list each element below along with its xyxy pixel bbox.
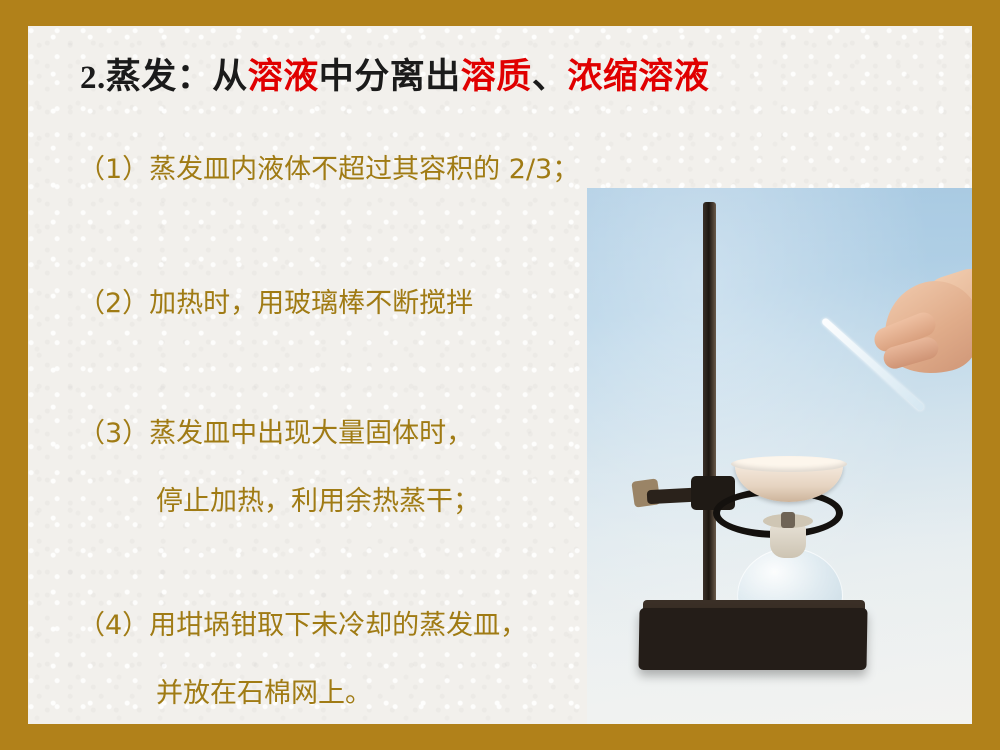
slide-root: 2.蒸发：从溶液中分离出溶质、浓缩溶液 （1）蒸发皿内液体不超过其容积的 2/3… <box>0 0 1000 750</box>
evaporating-dish-rim <box>731 456 847 472</box>
body-line-1: （1）蒸发皿内液体不超过其容积的 2/3； <box>78 154 579 186</box>
alcohol-lamp-wick <box>781 512 795 528</box>
title-text-middle: 中分离出 <box>319 57 461 97</box>
title-highlight-solute: 溶质 <box>461 57 532 97</box>
body-line-2: （2）加热时，用玻璃棒不断搅拌 <box>78 288 473 320</box>
title-text-before: 蒸发：从 <box>106 57 248 97</box>
stand-base <box>638 608 867 670</box>
stand-rod <box>703 202 716 616</box>
page-title: 2.蒸发：从溶液中分离出溶质、浓缩溶液 <box>80 48 709 99</box>
alcohol-lamp-neck <box>770 524 806 558</box>
title-number: 2. <box>80 60 106 96</box>
title-highlight-concentrate: 浓缩溶液 <box>567 57 709 97</box>
body-line-3-continued: 停止加热，利用余热蒸干； <box>156 486 480 518</box>
title-text-after: 、 <box>532 57 568 97</box>
title-highlight-solution: 溶液 <box>248 57 319 97</box>
slide-content-area: 2.蒸发：从溶液中分离出溶质、浓缩溶液 （1）蒸发皿内液体不超过其容积的 2/3… <box>28 26 972 724</box>
body-line-3: （3）蒸发皿中出现大量固体时， <box>78 418 473 450</box>
body-line-4: （4）用坩埚钳取下未冷却的蒸发皿， <box>78 610 527 642</box>
body-line-4-continued: 并放在石棉网上。 <box>156 678 372 710</box>
evaporation-apparatus-photo <box>587 188 972 724</box>
